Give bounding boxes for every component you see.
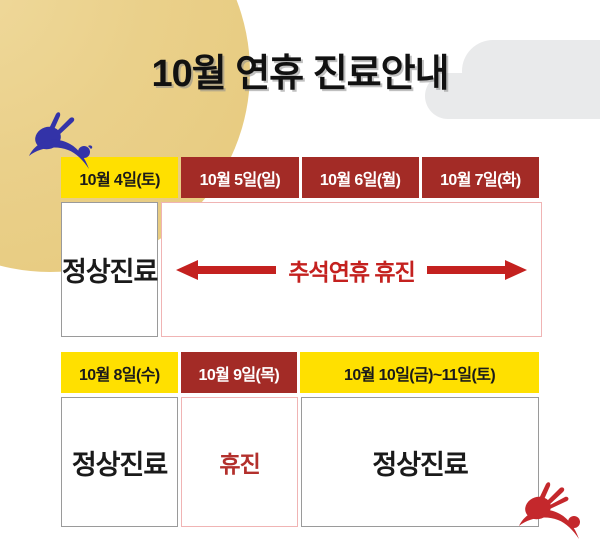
status-cell-oct4[interactable]: 정상진료: [61, 202, 158, 337]
page-title: 10월 연휴 진료안내: [0, 42, 600, 97]
date-header-oct7[interactable]: 10월 7일(화): [422, 157, 539, 198]
date-header-oct6-label: 10월 6일(월): [320, 166, 401, 190]
schedule-row-1-headers: 10월 4일(토) 10월 5일(일) 10월 6일(월) 10월 7일(화): [61, 157, 539, 198]
status-cell-oct8[interactable]: 정상진료: [61, 397, 178, 527]
date-header-oct8-label: 10월 8일(수): [79, 361, 160, 385]
rabbit-blue-icon: [26, 108, 98, 170]
rabbit-red-icon: [516, 478, 588, 540]
status-cell-oct9[interactable]: 휴진: [181, 397, 298, 527]
status-cell-chuseok-holiday[interactable]: 추석연휴 휴진: [161, 202, 541, 337]
schedule-row-2-cells: 정상진료 휴진 정상진료: [61, 397, 539, 527]
date-header-oct10-11[interactable]: 10월 10일(금)~11일(토): [300, 352, 539, 393]
date-header-oct10-11-label: 10월 10일(금)~11일(토): [344, 361, 495, 385]
schedule-row-1-cells: 정상진료 추석연휴 휴진: [61, 202, 539, 337]
status-cell-oct10-11[interactable]: 정상진료: [301, 397, 539, 527]
date-header-oct8[interactable]: 10월 8일(수): [61, 352, 178, 393]
status-cell-oct4-label: 정상진료: [62, 250, 157, 289]
date-header-oct5[interactable]: 10월 5일(일): [181, 157, 298, 198]
status-cell-oct10-11-label: 정상진료: [372, 443, 467, 482]
holiday-arrow-banner: 추석연휴 휴진: [162, 253, 540, 287]
date-header-oct7-label: 10월 7일(화): [440, 166, 521, 190]
schedule-row-2-headers: 10월 8일(수) 10월 9일(목) 10월 10일(금)~11일(토): [61, 352, 539, 393]
date-header-oct9-label: 10월 9일(목): [199, 361, 280, 385]
holiday-schedule-poster: 10월 연휴 진료안내 10월 4일(토) 10월 5일(일) 10월 6일(월…: [0, 0, 600, 545]
arrow-left-icon: [176, 259, 276, 281]
date-header-oct6[interactable]: 10월 6일(월): [302, 157, 419, 198]
holiday-banner-label: 추석연휴 휴진: [276, 253, 426, 287]
schedule-table: 10월 4일(토) 10월 5일(일) 10월 6일(월) 10월 7일(화) …: [61, 157, 539, 527]
date-header-oct5-label: 10월 5일(일): [200, 166, 281, 190]
status-cell-oct9-label: 휴진: [219, 445, 259, 479]
row-spacer: [61, 337, 539, 352]
status-cell-oct8-label: 정상진료: [72, 443, 167, 482]
arrow-right-icon: [427, 259, 527, 281]
schedule-row-1: 10월 4일(토) 10월 5일(일) 10월 6일(월) 10월 7일(화) …: [61, 157, 539, 337]
schedule-row-2: 10월 8일(수) 10월 9일(목) 10월 10일(금)~11일(토) 정상…: [61, 352, 539, 527]
date-header-oct9[interactable]: 10월 9일(목): [181, 352, 298, 393]
